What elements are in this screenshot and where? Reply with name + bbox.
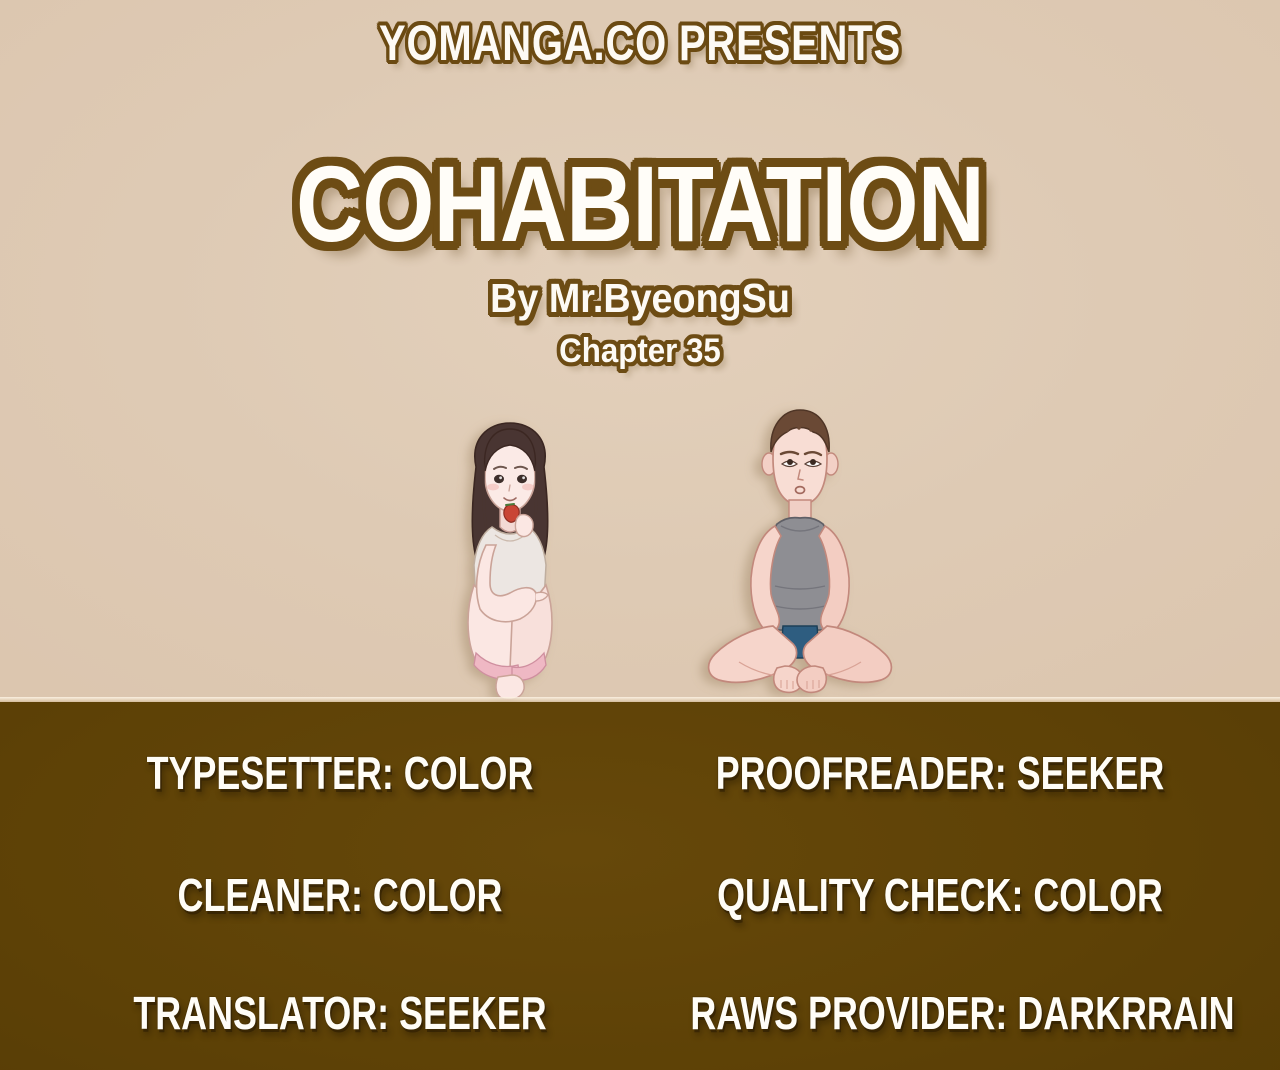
credit-raws-provider: RAWS PROVIDER: DARKRRAIN bbox=[690, 990, 1189, 1036]
title-page: YOMANGA.CO PRESENTS COHABITATION By Mr.B… bbox=[0, 0, 1280, 1070]
artwork-panel: YOMANGA.CO PRESENTS COHABITATION By Mr.B… bbox=[0, 0, 1280, 702]
author-byline: By Mr.ByeongSu bbox=[51, 278, 1229, 319]
credit-quality-check: QUALITY CHECK: COLOR bbox=[690, 872, 1189, 918]
chapter-label: Chapter 35 bbox=[51, 334, 1229, 368]
female-figure-group bbox=[468, 423, 552, 700]
page-title: COHABITATION bbox=[90, 150, 1191, 258]
male-character-illustration bbox=[695, 400, 905, 705]
credits-panel: TYPESETTER: COLOR PROOFREADER: SEEKER CL… bbox=[0, 702, 1280, 1070]
credit-typesetter: TYPESETTER: COLOR bbox=[106, 750, 574, 796]
female-character-illustration bbox=[440, 415, 580, 705]
credit-cleaner: CLEANER: COLOR bbox=[106, 872, 574, 918]
credit-proofreader: PROOFREADER: SEEKER bbox=[690, 750, 1189, 796]
credits-grid: TYPESETTER: COLOR PROOFREADER: SEEKER CL… bbox=[0, 702, 1280, 1070]
presents-banner: YOMANGA.CO PRESENTS bbox=[128, 14, 1152, 72]
credit-translator: TRANSLATOR: SEEKER bbox=[106, 990, 574, 1036]
male-figure-group bbox=[709, 410, 892, 692]
